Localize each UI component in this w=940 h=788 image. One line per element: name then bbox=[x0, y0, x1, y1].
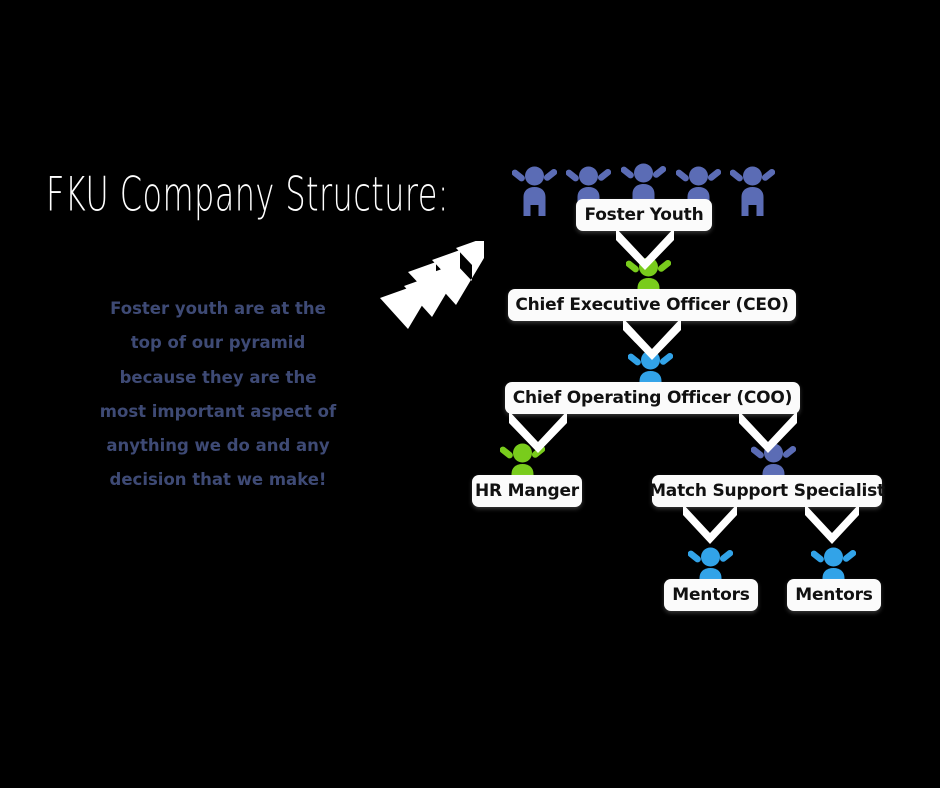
connector-match-support-to-mentors-right bbox=[803, 504, 861, 544]
description-text: Foster youth are at the top of our pyram… bbox=[96, 292, 340, 498]
person-icon-foster-youth-1 bbox=[512, 164, 557, 216]
node-foster-youth[interactable]: Foster Youth bbox=[576, 199, 712, 231]
triple-chevron-arrows-icon bbox=[378, 241, 486, 329]
connector-ceo-to-coo bbox=[621, 318, 683, 360]
person-icon-foster-youth-5 bbox=[730, 164, 775, 216]
page-title: FKU Company Structure: bbox=[46, 168, 382, 222]
connector-coo-to-hr-manager bbox=[507, 411, 569, 453]
node-mentors-left[interactable]: Mentors bbox=[664, 579, 758, 611]
node-match-support-specialist[interactable]: Match Support Specialist bbox=[652, 475, 882, 507]
node-coo[interactable]: Chief Operating Officer (COO) bbox=[505, 382, 800, 414]
connector-foster-youth-to-ceo bbox=[614, 228, 676, 270]
node-mentors-right[interactable]: Mentors bbox=[787, 579, 881, 611]
node-ceo[interactable]: Chief Executive Officer (CEO) bbox=[508, 289, 796, 321]
node-hr-manager[interactable]: HR Manger bbox=[472, 475, 582, 507]
slide-canvas: FKU Company Structure: Foster youth are … bbox=[0, 0, 940, 788]
connector-match-support-to-mentors-left bbox=[681, 504, 739, 544]
connector-coo-to-match-support-specialist bbox=[737, 411, 799, 453]
